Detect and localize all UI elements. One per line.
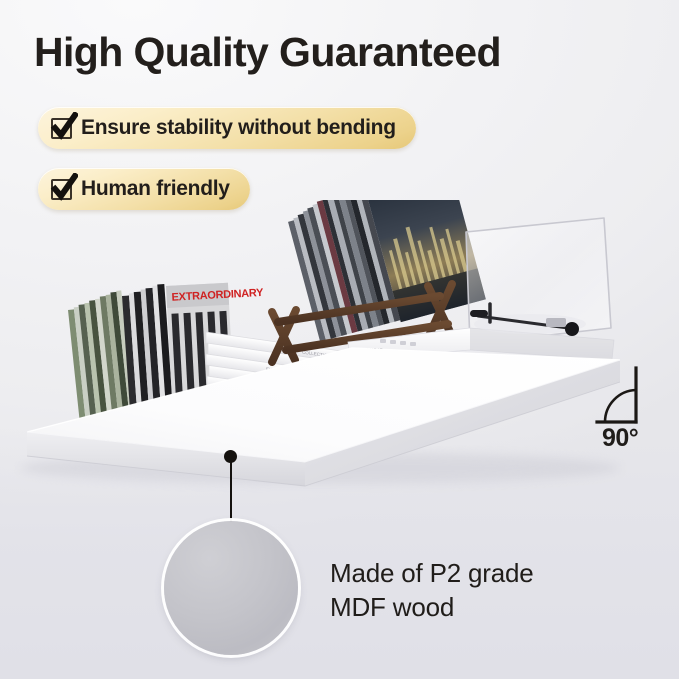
checkbox-check-icon [51, 179, 72, 200]
product-scene: EXTRAORDINARY COLLECTION ARCHIVE [0, 200, 679, 500]
page-title: High Quality Guaranteed [34, 29, 501, 76]
material-description: Made of P2 grade MDF wood [330, 556, 534, 624]
material-swatch-circle [164, 521, 298, 655]
feature-pill-stability: Ensure stability without bending [38, 107, 416, 149]
right-angle-icon [592, 360, 652, 430]
feature-pill-label: Ensure stability without bending [81, 116, 396, 140]
callout-leader-line [230, 462, 232, 524]
angle-value-label: 90° [602, 424, 638, 453]
checkbox-check-icon [51, 118, 72, 139]
feature-pill-label: Human friendly [81, 177, 230, 201]
